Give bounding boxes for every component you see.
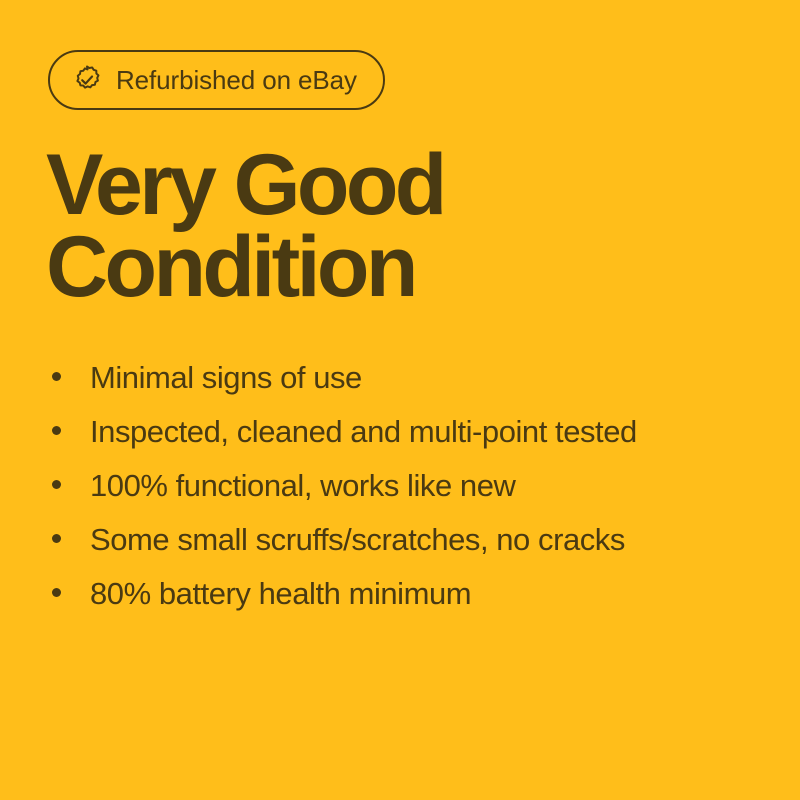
list-item-label: Inspected, cleaned and multi-point teste… [90, 416, 752, 447]
refurbished-condition-card: Refurbished on eBay Very Good Condition … [0, 0, 800, 800]
list-item: 80% battery health minimum [52, 578, 752, 632]
list-item: 100% functional, works like new [52, 470, 752, 524]
condition-feature-list: Minimal signs of use Inspected, cleaned … [52, 362, 752, 632]
refurbished-badge-pill: Refurbished on eBay [48, 50, 385, 110]
list-item-label: 100% functional, works like new [90, 470, 752, 501]
list-item-label: Minimal signs of use [90, 362, 752, 393]
bullet-icon [52, 362, 90, 393]
bullet-icon [52, 524, 90, 555]
list-item: Inspected, cleaned and multi-point teste… [52, 416, 752, 470]
bullet-icon [52, 470, 90, 501]
page-title: Very Good Condition [46, 144, 444, 308]
bullet-icon [52, 416, 90, 447]
refurbished-badge-label: Refurbished on eBay [116, 67, 357, 93]
verified-rosette-check-icon [72, 65, 102, 95]
list-item-label: Some small scruffs/scratches, no cracks [90, 524, 752, 555]
bullet-icon [52, 578, 90, 609]
list-item: Minimal signs of use [52, 362, 752, 416]
list-item-label: 80% battery health minimum [90, 578, 752, 609]
list-item: Some small scruffs/scratches, no cracks [52, 524, 752, 578]
